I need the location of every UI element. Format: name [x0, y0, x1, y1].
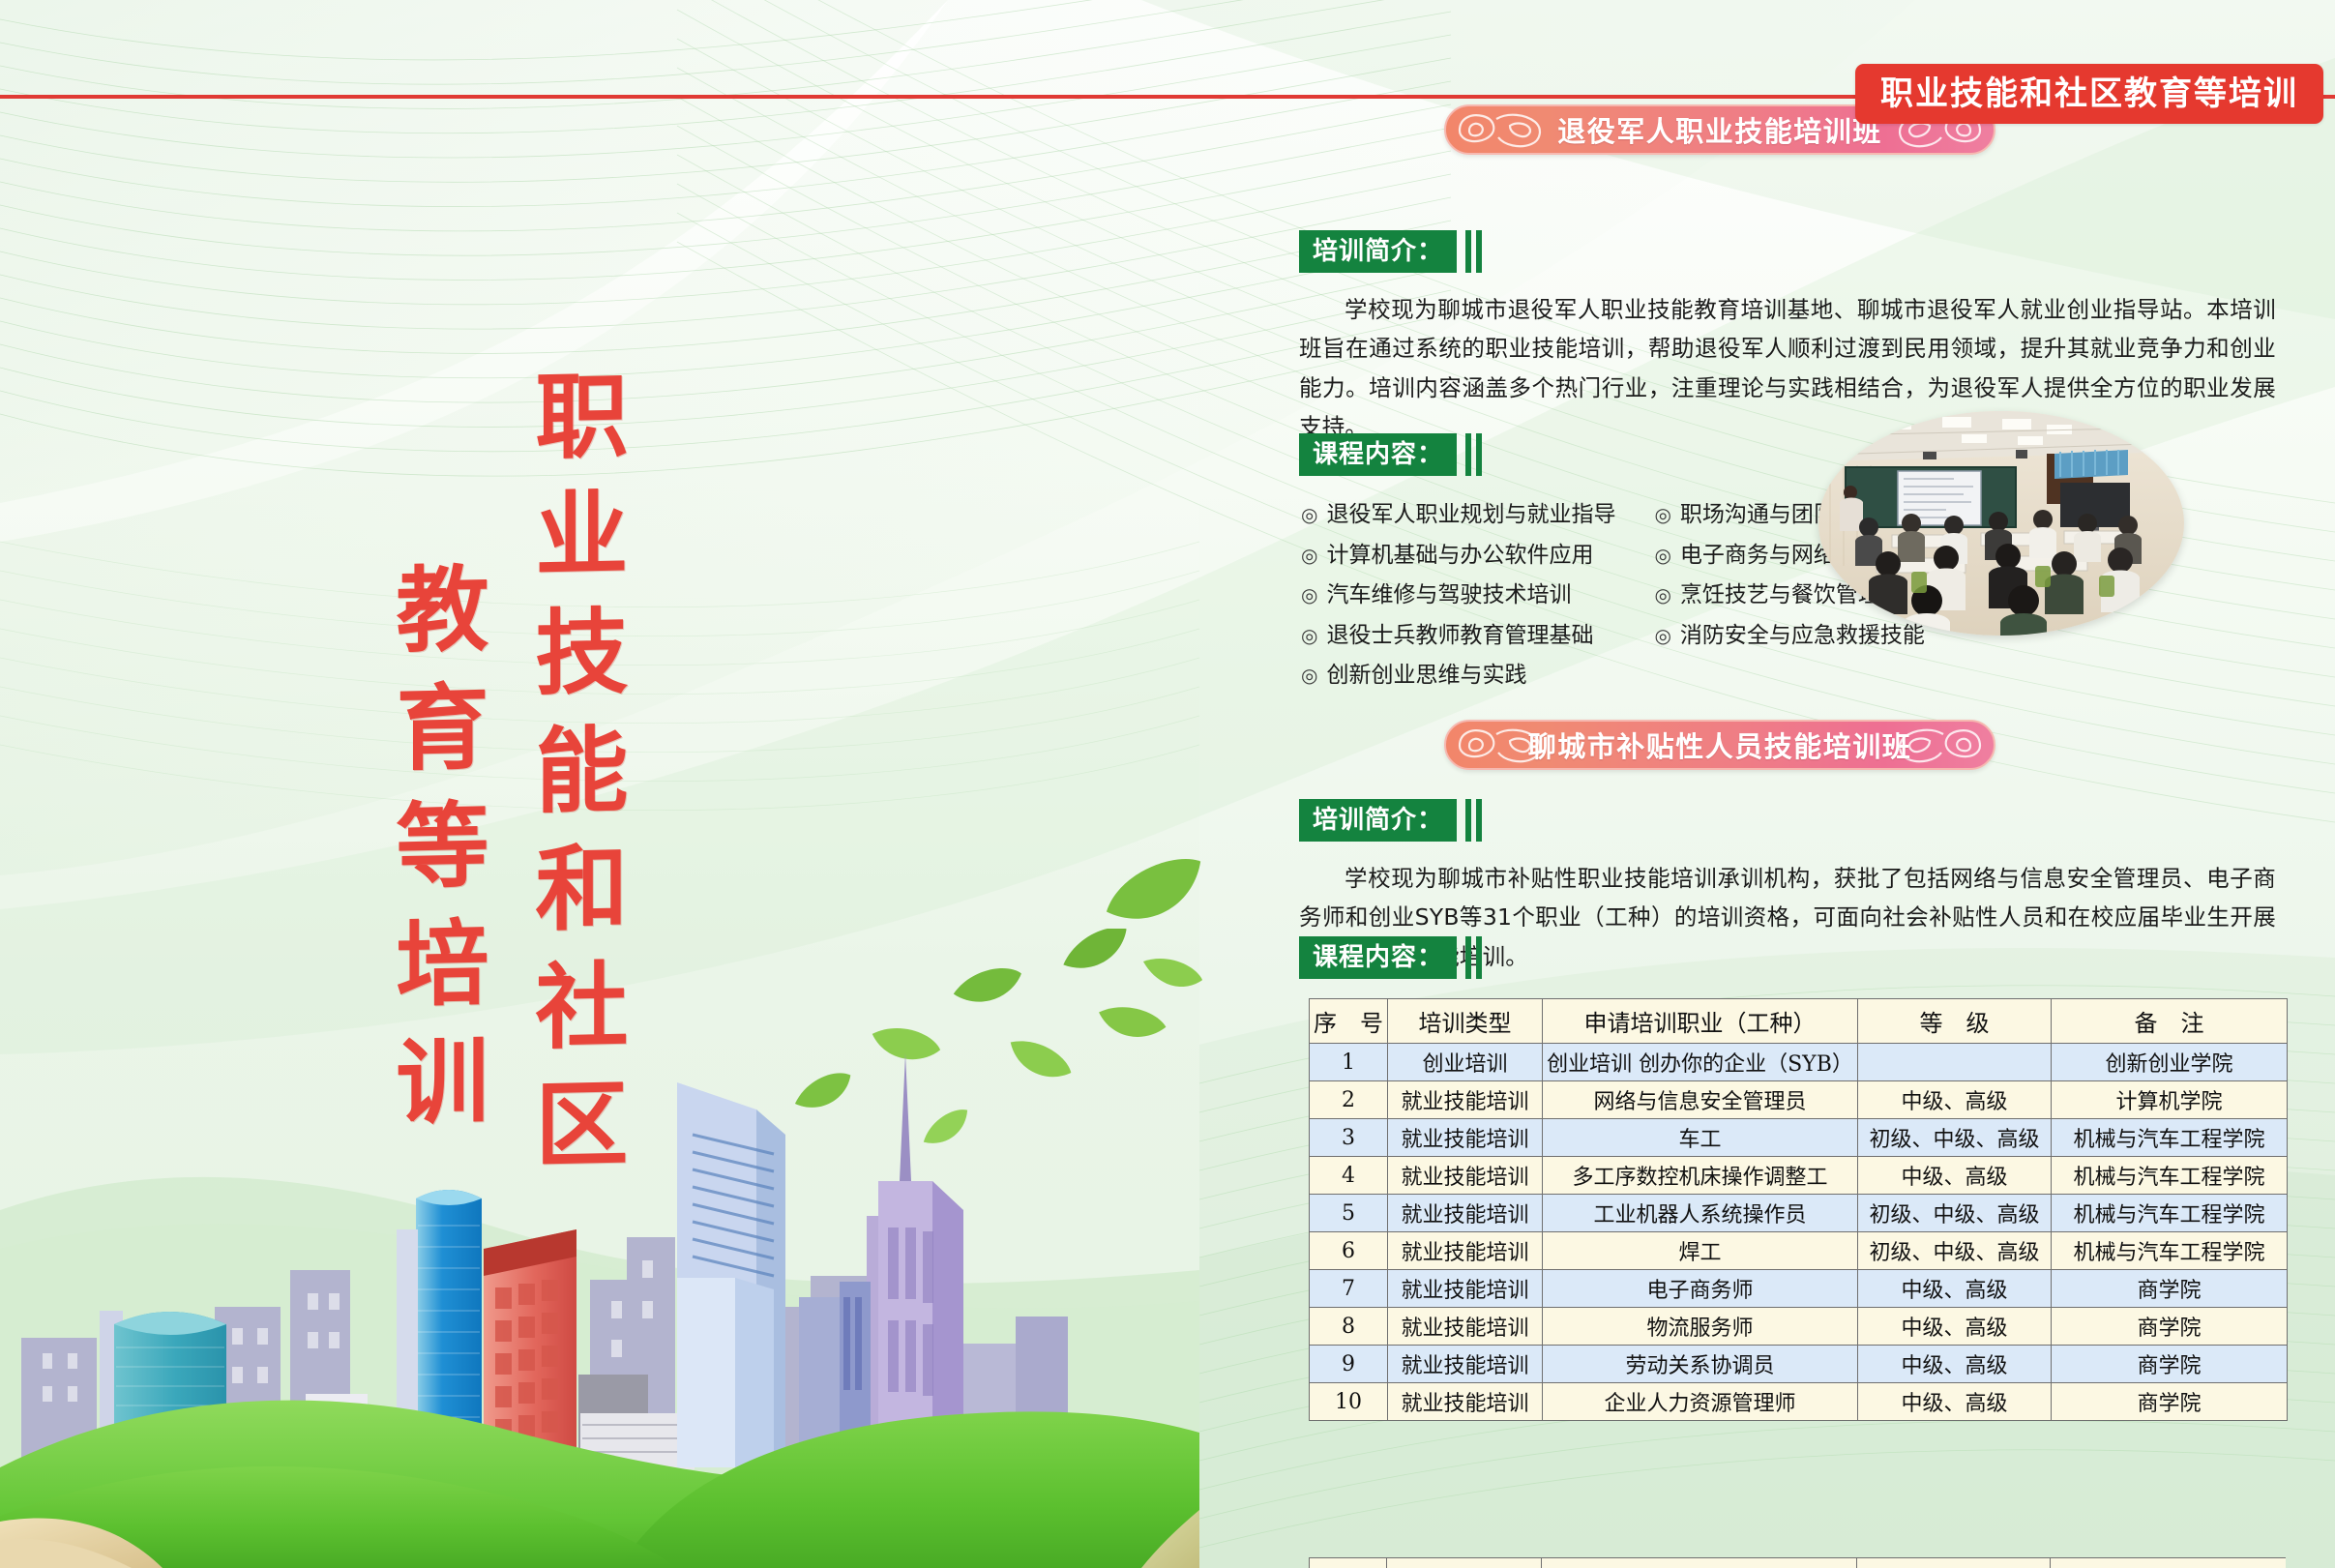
cell-level: 初级、中级、高级	[1858, 1195, 2052, 1232]
cell-type: 就业技能培训	[1388, 1383, 1543, 1421]
course-item-label: 退役士兵教师教育管理基础	[1326, 619, 1593, 653]
cell-index: 10	[1310, 1383, 1388, 1421]
course-item: ◎ 退役士兵教师教育管理基础	[1301, 619, 1615, 653]
cell-job: 工业机器人系统操作员	[1543, 1195, 1858, 1232]
label-bars-decoration	[1465, 936, 1482, 979]
classroom-photo-graphic	[1818, 411, 2184, 636]
cell-type: 创业培训	[1388, 1044, 1543, 1081]
course-item: ◎ 汽车维修与驾驶技术培训	[1301, 578, 1615, 612]
column-header-type: 培训类型	[1388, 999, 1543, 1044]
table-row: 9 就业技能培训 劳动关系协调员 中级、高级 商学院	[1310, 1346, 2288, 1383]
cell-remark: 商学院	[2052, 1346, 2288, 1383]
column-header-index: 序 号	[1310, 999, 1388, 1044]
column-header-remark: 备 注	[2052, 999, 2288, 1044]
training-catalog-table: 序 号 培训类型 申请培训职业（工种） 等 级 备 注 1 创业培训 创业培训 …	[1309, 998, 2288, 1421]
table-row	[1310, 1558, 2287, 1568]
cell	[1857, 1558, 2051, 1568]
cell-job: 劳动关系协调员	[1543, 1346, 1858, 1383]
next-table-sliver	[1309, 1557, 2286, 1568]
content-column: 退役军人职业技能培训班 培训简介： 学校现为聊城市退役军人职业技能教育培训基地、…	[1199, 0, 2335, 1568]
cell-index: 1	[1310, 1044, 1388, 1081]
cell-index: 4	[1310, 1157, 1388, 1195]
table-row: 2 就业技能培训 网络与信息安全管理员 中级、高级 计算机学院	[1310, 1081, 2288, 1119]
table-row: 5 就业技能培训 工业机器人系统操作员 初级、中级、高级 机械与汽车工程学院	[1310, 1195, 2288, 1232]
cell-type: 就业技能培训	[1388, 1232, 1543, 1270]
cell-level: 中级、高级	[1858, 1346, 2052, 1383]
cell-index: 9	[1310, 1346, 1388, 1383]
course-label-text: 课程内容：	[1313, 945, 1443, 970]
cell-job: 创业培训 创办你的企业（SYB）	[1543, 1044, 1858, 1081]
cell-level: 中级、高级	[1858, 1383, 2052, 1421]
table-row: 7 就业技能培训 电子商务师 中级、高级 商学院	[1310, 1270, 2288, 1308]
cell-type: 就业技能培训	[1388, 1346, 1543, 1383]
course-column-left: ◎ 退役军人职业规划与就业指导 ◎ 计算机基础与办公软件应用 ◎ 汽车维修与驾驶…	[1301, 498, 1615, 693]
cell-remark: 商学院	[2052, 1383, 2288, 1421]
cell-level: 中级、高级	[1858, 1308, 2052, 1346]
table-row: 3 就业技能培训 车工 初级、中级、高级 机械与汽车工程学院	[1310, 1119, 2288, 1157]
cell-job: 车工	[1543, 1119, 1858, 1157]
cover-panel: 职业技能和社区 教育等培训	[0, 0, 1199, 1568]
cell-index: 3	[1310, 1119, 1388, 1157]
table-body: 1 创业培训 创业培训 创办你的企业（SYB） 创新创业学院 2 就业技能培训 …	[1310, 1044, 2288, 1421]
section-banner-label: 聊城市补贴性人员技能培训班	[1528, 725, 1912, 765]
table-row: 8 就业技能培训 物流服务师 中级、高级 商学院	[1310, 1308, 2288, 1346]
cell	[1310, 1558, 1387, 1568]
cell-type: 就业技能培训	[1388, 1270, 1543, 1308]
course-item: ◎ 退役军人职业规划与就业指导	[1301, 498, 1615, 532]
bullet-icon: ◎	[1301, 505, 1317, 524]
cell	[1387, 1558, 1542, 1568]
cell-job: 焊工	[1543, 1232, 1858, 1270]
bullet-icon: ◎	[1301, 666, 1317, 685]
cell-job: 电子商务师	[1543, 1270, 1858, 1308]
cell-level: 初级、中级、高级	[1858, 1119, 2052, 1157]
course-item: ◎ 创新创业思维与实践	[1301, 659, 1615, 693]
cell-level: 中级、高级	[1858, 1157, 2052, 1195]
course-label-veterans: 课程内容：	[1299, 433, 1482, 476]
table-header-row: 序 号 培训类型 申请培训职业（工种） 等 级 备 注	[1310, 999, 2288, 1044]
label-bars-decoration	[1465, 230, 1482, 273]
cell	[1542, 1558, 1857, 1568]
intro-label-subsidized: 培训简介：	[1299, 799, 1482, 842]
cell-index: 5	[1310, 1195, 1388, 1232]
column-header-level: 等 级	[1858, 999, 2052, 1044]
table-row: 1 创业培训 创业培训 创办你的企业（SYB） 创新创业学院	[1310, 1044, 2288, 1081]
bullet-icon: ◎	[1301, 546, 1317, 565]
cell-level: 中级、高级	[1858, 1270, 2052, 1308]
cell-type: 就业技能培训	[1388, 1157, 1543, 1195]
table-row: 10 就业技能培训 企业人力资源管理师 中级、高级 商学院	[1310, 1383, 2288, 1421]
cell-index: 2	[1310, 1081, 1388, 1119]
cell-remark: 机械与汽车工程学院	[2052, 1157, 2288, 1195]
intro-label-text: 培训简介：	[1313, 808, 1443, 833]
table-row: 6 就业技能培训 焊工 初级、中级、高级 机械与汽车工程学院	[1310, 1232, 2288, 1270]
section-banner-subsidized: 聊城市补贴性人员技能培训班	[1444, 720, 1995, 770]
cell-level	[1858, 1044, 2052, 1081]
cell-remark: 机械与汽车工程学院	[2052, 1232, 2288, 1270]
cell-index: 8	[1310, 1308, 1388, 1346]
cell-remark: 计算机学院	[2052, 1081, 2288, 1119]
cell-index: 7	[1310, 1270, 1388, 1308]
course-item-label: 计算机基础与办公软件应用	[1326, 539, 1593, 573]
cell-job: 多工序数控机床操作调整工	[1543, 1157, 1858, 1195]
cell-remark: 商学院	[2052, 1308, 2288, 1346]
table-row: 4 就业技能培训 多工序数控机床操作调整工 中级、高级 机械与汽车工程学院	[1310, 1157, 2288, 1195]
intro-label-text: 培训简介：	[1313, 239, 1443, 264]
course-item: ◎ 计算机基础与办公软件应用	[1301, 539, 1615, 573]
cell-remark: 创新创业学院	[2052, 1044, 2288, 1081]
bullet-icon: ◎	[1654, 546, 1670, 565]
cell-type: 就业技能培训	[1388, 1195, 1543, 1232]
course-item-label: 退役军人职业规划与就业指导	[1326, 498, 1615, 532]
bullet-icon: ◎	[1654, 585, 1670, 605]
cell-job: 物流服务师	[1543, 1308, 1858, 1346]
label-bars-decoration	[1465, 433, 1482, 476]
cloud-ornament-left-icon	[1454, 110, 1547, 151]
column-header-job: 申请培训职业（工种）	[1543, 999, 1858, 1044]
course-item-label: 创新创业思维与实践	[1326, 659, 1526, 693]
label-bars-decoration	[1465, 799, 1482, 842]
cell-job: 企业人力资源管理师	[1543, 1383, 1858, 1421]
cell-remark: 机械与汽车工程学院	[2052, 1195, 2288, 1232]
bullet-icon: ◎	[1301, 585, 1317, 605]
cell	[2051, 1558, 2287, 1568]
table: 序 号 培训类型 申请培训职业（工种） 等 级 备 注 1 创业培训 创业培训 …	[1309, 998, 2288, 1421]
cell-type: 就业技能培训	[1388, 1119, 1543, 1157]
course-item-label: 汽车维修与驾驶技术培训	[1326, 578, 1571, 612]
header-tag-label: 职业技能和社区教育等培训	[1880, 77, 2298, 110]
cell-level: 中级、高级	[1858, 1081, 2052, 1119]
bullet-icon: ◎	[1654, 505, 1670, 524]
cell-remark: 商学院	[2052, 1270, 2288, 1308]
cell-type: 就业技能培训	[1388, 1081, 1543, 1119]
bullet-icon: ◎	[1301, 626, 1317, 645]
classroom-photo	[1818, 411, 2184, 636]
section-banner-label: 退役军人职业技能培训班	[1557, 109, 1882, 150]
cell-index: 6	[1310, 1232, 1388, 1270]
table-continued	[1309, 1557, 2286, 1568]
course-label-text: 课程内容：	[1313, 442, 1443, 467]
brochure-page: 职业技能和社区教育等培训 职业技能和社区 教育等培训	[0, 0, 2335, 1568]
bullet-icon: ◎	[1654, 626, 1670, 645]
course-label-subsidized: 课程内容：	[1299, 936, 1482, 979]
cell-remark: 机械与汽车工程学院	[2052, 1119, 2288, 1157]
intro-label-veterans: 培训简介：	[1299, 230, 1482, 273]
cell-job: 网络与信息安全管理员	[1543, 1081, 1858, 1119]
city-skyline-illustration	[0, 891, 1199, 1568]
header-tag: 职业技能和社区教育等培训	[1855, 64, 2323, 124]
cell-level: 初级、中级、高级	[1858, 1232, 2052, 1270]
cell-type: 就业技能培训	[1388, 1308, 1543, 1346]
